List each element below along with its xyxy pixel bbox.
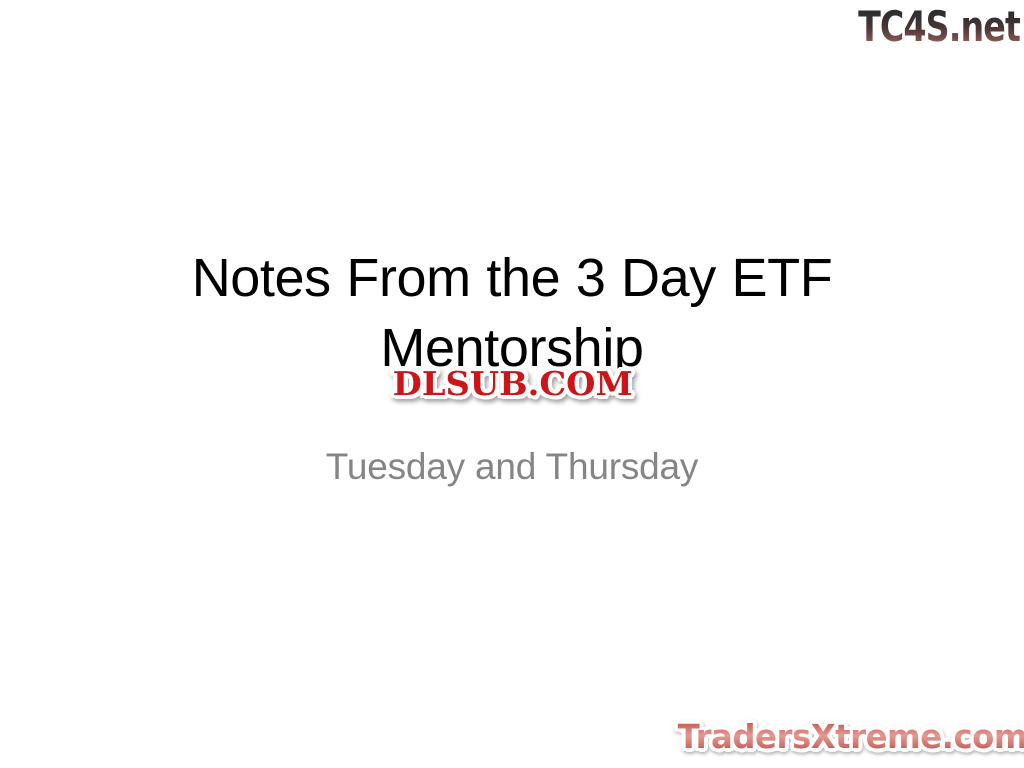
dlsub-watermark: DLSUB.COM bbox=[368, 362, 658, 406]
tradersxtreme-watermark-text: TradersXtreme.com bbox=[677, 717, 1024, 756]
slide-title-line-1: Notes From the 3 Day ETF bbox=[128, 243, 896, 313]
slide-subtitle-text: Tuesday and Thursday bbox=[128, 444, 896, 490]
presentation-slide: TC4S.net Notes From the 3 Day ETF Mentor… bbox=[0, 0, 1024, 768]
tc4s-logo[interactable]: TC4S.net bbox=[836, 2, 1020, 52]
slide-subtitle: Tuesday and Thursday bbox=[128, 444, 896, 490]
tradersxtreme-watermark-glyphs: TradersXtreme.com TradersXtreme.com bbox=[677, 719, 1024, 755]
tradersxtreme-watermark[interactable]: TradersXtreme.com TradersXtreme.com bbox=[682, 714, 1022, 760]
dlsub-watermark-text: DLSUB.COM bbox=[393, 366, 633, 402]
tc4s-logo-text: TC4S.net bbox=[858, 5, 1020, 49]
